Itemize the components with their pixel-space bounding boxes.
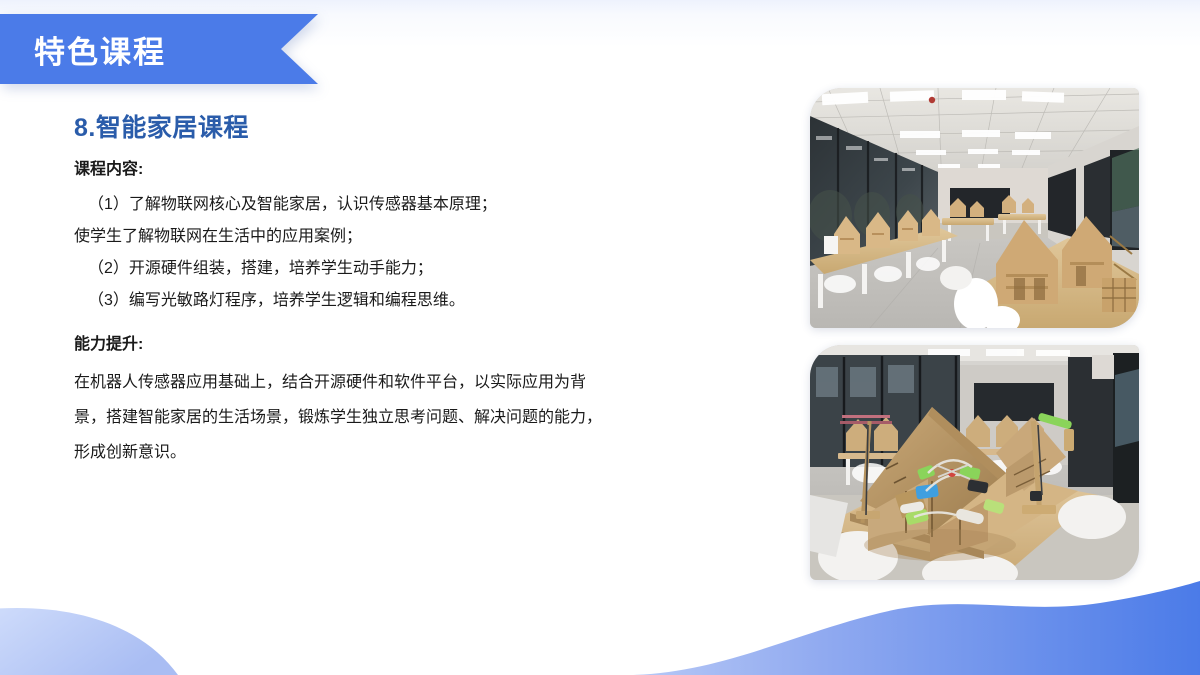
content-column: 8.智能家居课程 课程内容: （1）了解物联网核心及智能家居，认识传感器基本原理… [74,113,754,470]
ability-line-2: 景，搭建智能家居的生活场景，锻炼学生独立思考问题、解决问题的能力， [74,400,754,435]
section-course-content: 课程内容: （1）了解物联网核心及智能家居，认识传感器基本原理； 使学生了解物联… [74,159,754,317]
section-ability-improvement: 能力提升: 在机器人传感器应用基础上，结合开源硬件和软件平台，以实际应用为背 景… [74,334,754,469]
course-content-line-2: 使学生了解物联网在生活中的应用案例； [74,221,754,253]
slide-canvas: 特色课程 8.智能家居课程 课程内容: （1）了解物联网核心及智能家居，认识传感… [0,0,1200,675]
ability-line-3: 形成创新意识。 [74,435,754,470]
header-banner: 特色课程 [0,14,340,84]
course-content-line-3: （2）开源硬件组装，搭建，培养学生动手能力； [74,253,754,285]
course-content-line-1: （1）了解物联网核心及智能家居，认识传感器基本原理； [74,189,754,221]
smart-home-model-photo [810,345,1139,580]
classroom-photo [810,88,1139,328]
course-content-line-4: （3）编写光敏路灯程序，培养学生逻辑和编程思维。 [74,285,754,317]
banner-title: 特色课程 [34,14,166,84]
section-label-ability-improvement: 能力提升: [74,334,754,356]
section-spacer [74,317,754,334]
section-label-course-content: 课程内容: [74,159,754,181]
wave-shape-right [630,581,1200,675]
ability-line-1: 在机器人传感器应用基础上，结合开源硬件和软件平台，以实际应用为背 [74,365,754,400]
wave-shape-left [0,608,178,675]
page-title: 8.智能家居课程 [74,113,754,143]
